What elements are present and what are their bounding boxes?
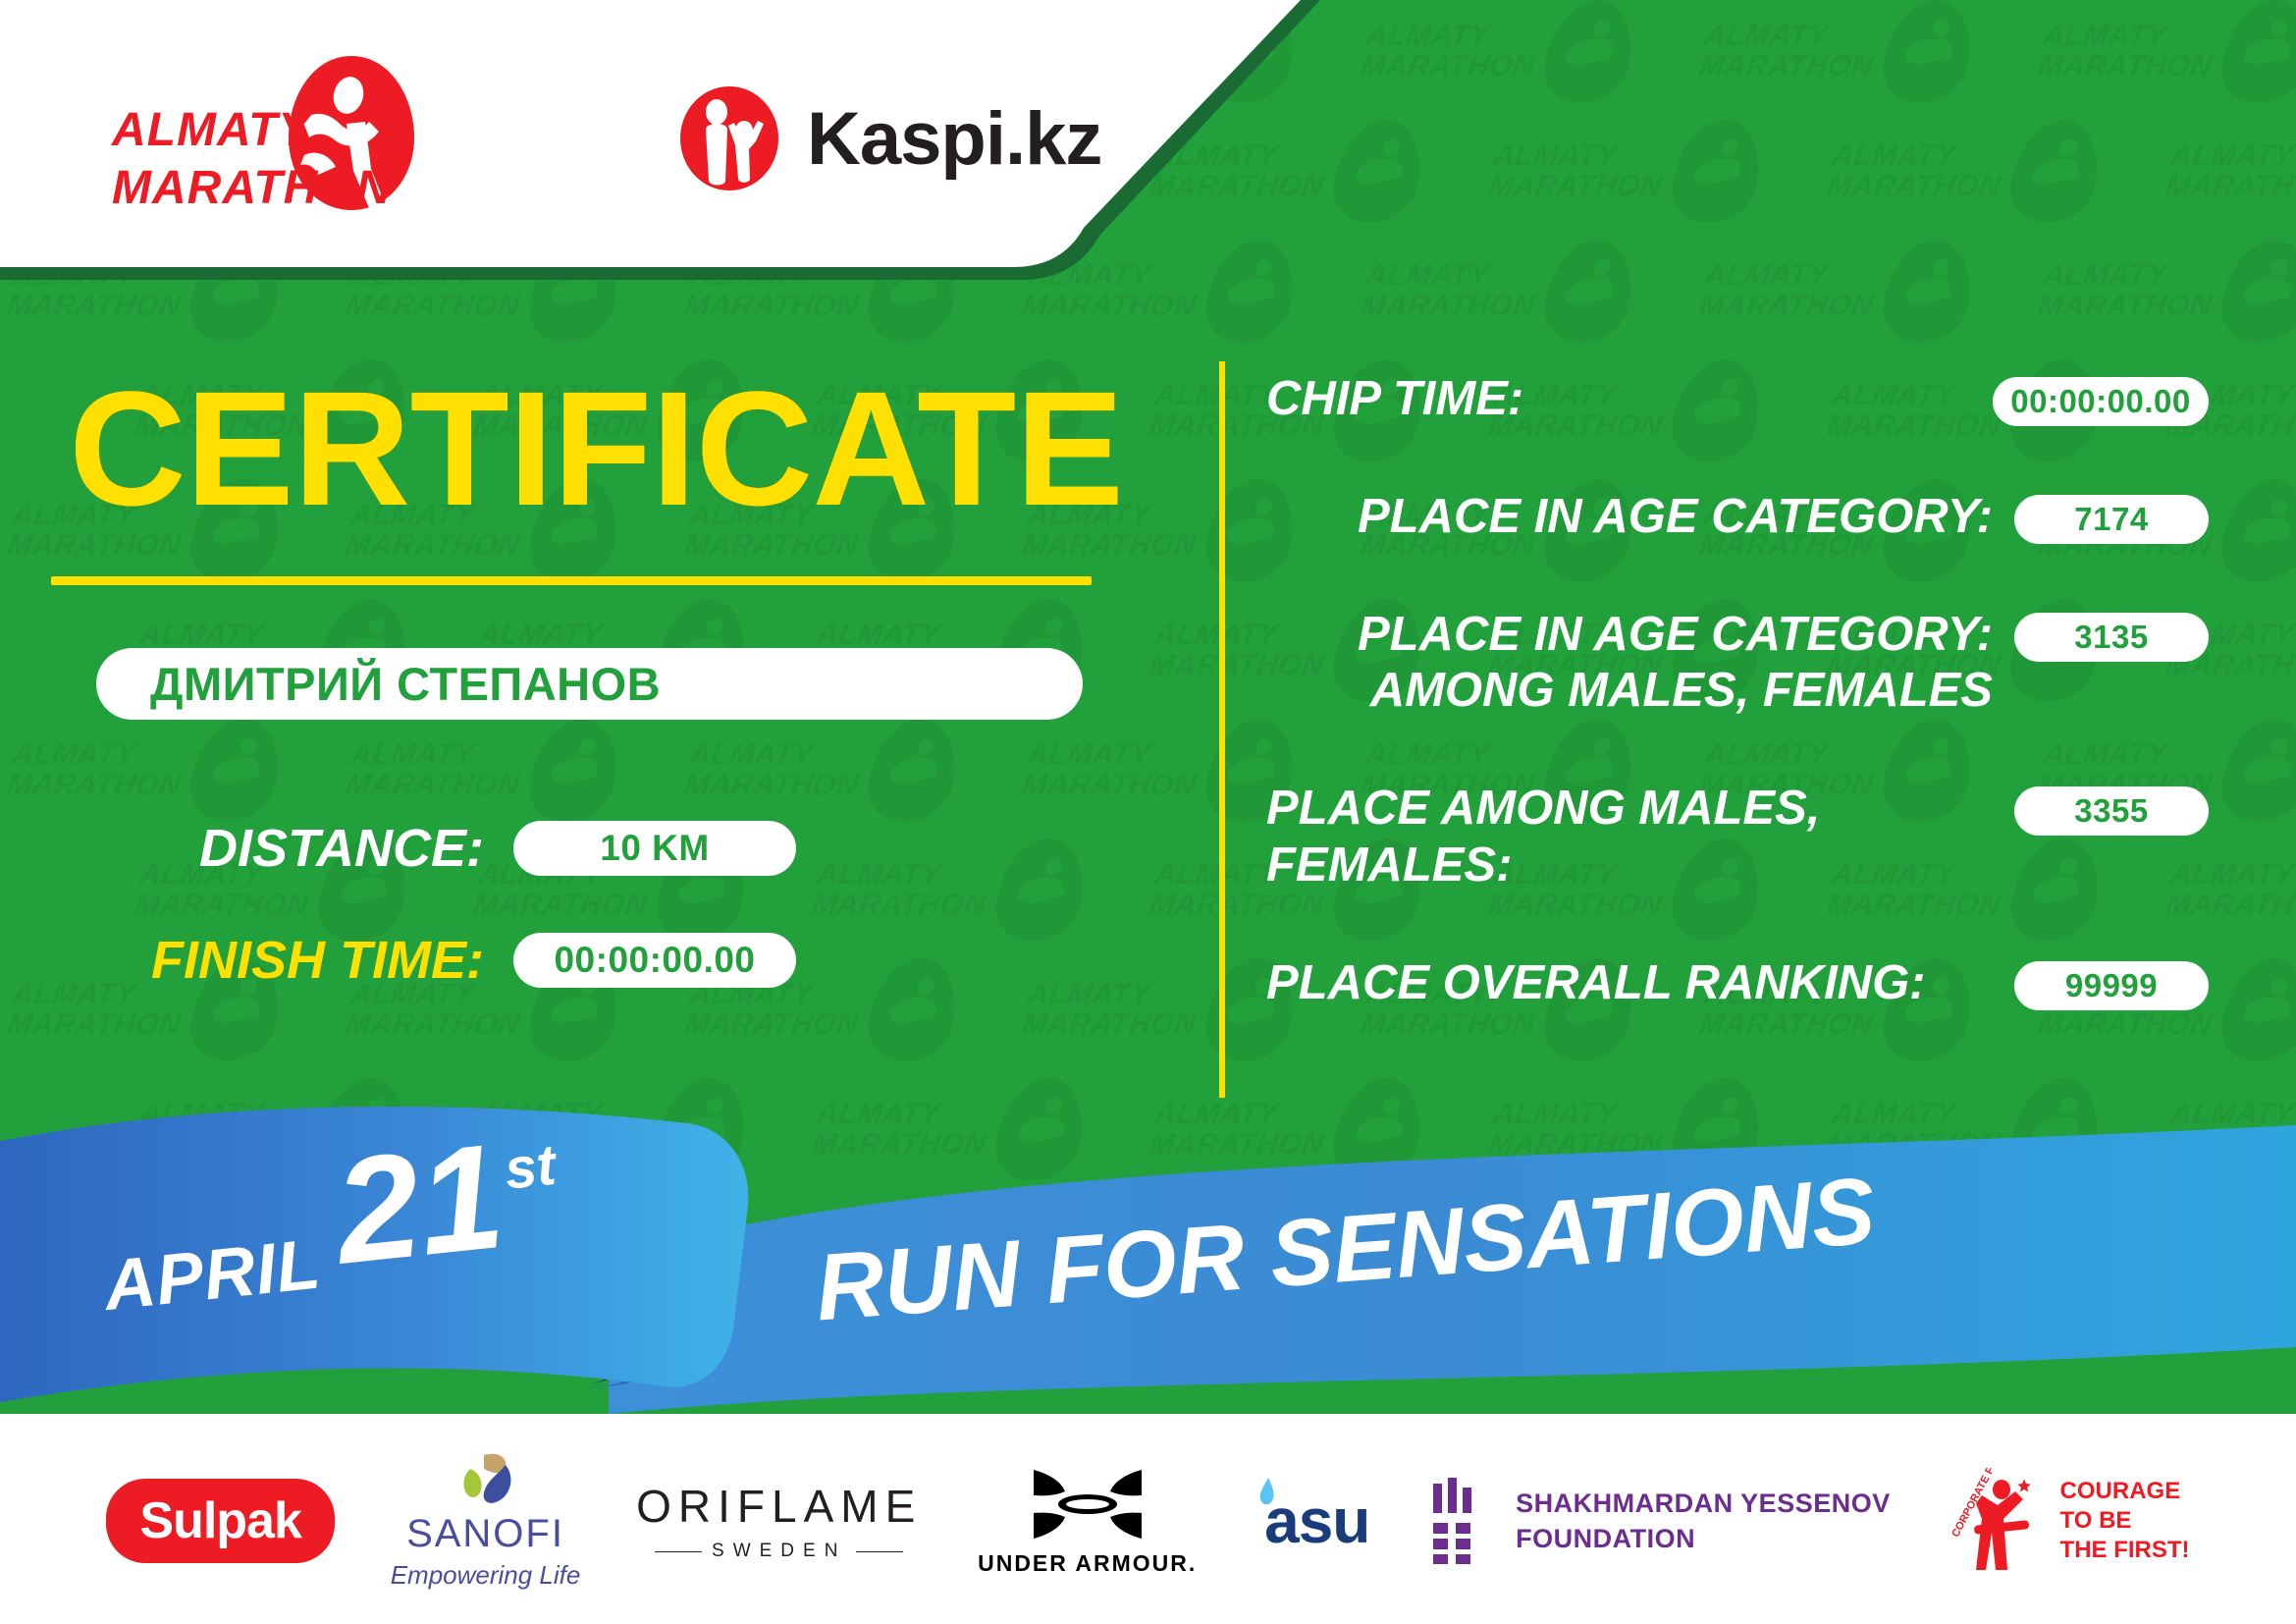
sponsor-under-armour-logo: UNDER ARMOUR. bbox=[978, 1466, 1197, 1577]
sponsor-under-armour-label: UNDER ARMOUR. bbox=[978, 1550, 1197, 1577]
watermark-drop-icon bbox=[2216, 0, 2296, 102]
watermark-almaty-marathon-icon: ALMATYMARATHON bbox=[2032, 240, 2296, 342]
sponsor-yessenov-line2: FOUNDATION bbox=[1516, 1521, 1891, 1556]
yessenov-mark-icon bbox=[1425, 1478, 1494, 1564]
place-overall-label: PLACE OVERALL RANKING: bbox=[1266, 955, 2014, 1012]
sponsor-courage-label: COURAGE TO BE THE FIRST! bbox=[2060, 1477, 2190, 1565]
header-logos: ALMATY MARATHON Kaspi.kz bbox=[0, 0, 1178, 280]
sponsor-courage-logo: CORPORATE FUND COURAGE TO BE THE FIRST! bbox=[1947, 1468, 2190, 1574]
watermark-drop-icon bbox=[2216, 479, 2296, 581]
distance-label: DISTANCE: bbox=[96, 818, 484, 879]
certificate-page: ALMATYMARATHONALMATYMARATHONALMATYMARATH… bbox=[0, 0, 2296, 1624]
place-age-category-gender-value-pill: 3135 bbox=[2014, 613, 2209, 662]
kaspi-people-icon bbox=[677, 86, 781, 190]
distance-value: 10 KM bbox=[600, 828, 709, 869]
sponsor-sanofi-label: SANOFI bbox=[406, 1512, 564, 1556]
sponsor-bar: Sulpak SANOFI Empowering Life ORIFLAME S… bbox=[0, 1418, 2296, 1624]
sponsor-sulpak-logo: Sulpak bbox=[106, 1479, 335, 1563]
sponsor-sanofi-logo: SANOFI Empowering Life bbox=[391, 1451, 581, 1591]
finish-time-value-pill: 00:00:00.00 bbox=[513, 933, 796, 988]
chip-time-value-pill: 00:00:00.00 bbox=[1993, 377, 2209, 426]
watermark-almaty-marathon-icon: ALMATYMARATHON bbox=[2160, 120, 2296, 222]
place-age-category-value: 7174 bbox=[2074, 501, 2148, 538]
stat-row-place-age-category: PLACE IN AGE CATEGORY: 7174 bbox=[1266, 489, 2209, 546]
kaspi-label: Kaspi.kz bbox=[807, 96, 1101, 182]
finish-time-label: FINISH TIME: bbox=[96, 930, 484, 991]
athlete-name-value: ДМИТРИЙ СТЕПАНОВ bbox=[150, 657, 661, 711]
stats-panel: CHIP TIME: 00:00:00.00 PLACE IN AGE CATE… bbox=[1266, 371, 2209, 1073]
watermark-drop-icon bbox=[1539, 240, 1639, 342]
watermark-drop-icon bbox=[2004, 120, 2105, 222]
oriflame-rule-right bbox=[856, 1551, 903, 1552]
place-age-category-label: PLACE IN AGE CATEGORY: bbox=[1266, 489, 2014, 546]
watermark-label: ALMATYMARATHON bbox=[2163, 140, 2296, 201]
sponsor-yessenov-label: SHAKHMARDAN YESSENOV FOUNDATION bbox=[1516, 1486, 1891, 1557]
page-title: CERTIFICATE bbox=[69, 368, 1217, 531]
sponsor-oriflame-sub: SWEDEN bbox=[655, 1541, 903, 1562]
watermark-label: ALMATYMARATHON bbox=[1697, 21, 1881, 81]
watermark-label: ALMATYMARATHON bbox=[1697, 260, 1881, 321]
sponsor-sanofi-tagline: Empowering Life bbox=[391, 1560, 581, 1591]
distance-value-pill: 10 KM bbox=[513, 821, 796, 876]
watermark-almaty-marathon-icon: ALMATYMARATHON bbox=[1694, 240, 1978, 342]
event-day: 21 bbox=[329, 1121, 509, 1287]
kaspi-logo: Kaspi.kz bbox=[677, 86, 1101, 190]
place-age-category-gender-value: 3135 bbox=[2074, 619, 2148, 656]
under-armour-mark-icon bbox=[1024, 1466, 1151, 1543]
place-among-gender-label: PLACE AMONG MALES, FEMALES: bbox=[1266, 781, 2014, 894]
sponsor-yessenov-line1: SHAKHMARDAN YESSENOV bbox=[1516, 1486, 1891, 1521]
watermark-drop-icon bbox=[2216, 719, 2296, 821]
event-day-suffix: st bbox=[502, 1132, 559, 1203]
courage-line1: COURAGE bbox=[2060, 1477, 2190, 1506]
sponsor-oriflame-label: ORIFLAME bbox=[636, 1480, 922, 1533]
watermark-almaty-marathon-icon: ALMATYMARATHON bbox=[2032, 0, 2296, 102]
watermark-label: ALMATYMARATHON bbox=[2036, 260, 2219, 321]
sanofi-mark-icon bbox=[449, 1451, 523, 1512]
stat-row-place-overall: PLACE OVERALL RANKING: 99999 bbox=[1266, 955, 2209, 1012]
finish-time-row: FINISH TIME: 00:00:00.00 bbox=[96, 930, 1217, 991]
watermark-drop-icon bbox=[1877, 0, 1977, 102]
place-among-gender-value: 3355 bbox=[2074, 792, 2148, 830]
courage-line2: TO BE bbox=[2060, 1506, 2190, 1536]
watermark-almaty-marathon-icon: ALMATYMARATHON bbox=[1694, 0, 1978, 102]
distance-row: DISTANCE: 10 KM bbox=[96, 818, 1217, 879]
watermark-drop-icon bbox=[2216, 240, 2296, 342]
watermark-label: ALMATYMARATHON bbox=[1825, 140, 2008, 201]
watermark-almaty-marathon-icon: ALMATYMARATHON bbox=[1822, 120, 2106, 222]
place-age-category-value-pill: 7174 bbox=[2014, 495, 2209, 544]
stat-row-place-age-category-gender: PLACE IN AGE CATEGORY: AMONG MALES, FEMA… bbox=[1266, 607, 2209, 721]
chip-time-label: CHIP TIME: bbox=[1266, 371, 1993, 428]
watermark-label: ALMATYMARATHON bbox=[2036, 21, 2219, 81]
title-divider bbox=[51, 576, 1092, 585]
watermark-label: ALMATYMARATHON bbox=[1486, 140, 1670, 201]
almaty-marathon-logo: ALMATY MARATHON bbox=[108, 51, 432, 223]
certificate-left-column: CERTIFICATE ДМИТРИЙ СТЕПАНОВ DISTANCE: 1… bbox=[0, 324, 1217, 991]
sponsor-yessenov-logo: SHAKHMARDAN YESSENOV FOUNDATION bbox=[1425, 1478, 1891, 1564]
sponsor-oriflame-sub-label: SWEDEN bbox=[712, 1541, 846, 1562]
watermark-drop-icon bbox=[2216, 958, 2296, 1060]
chip-time-value: 00:00:00.00 bbox=[2010, 383, 2190, 420]
athlete-name-field[interactable]: ДМИТРИЙ СТЕПАНОВ bbox=[96, 648, 1083, 720]
courage-figure-icon: CORPORATE FUND bbox=[1947, 1468, 2049, 1574]
place-age-category-gender-label: PLACE IN AGE CATEGORY: AMONG MALES, FEMA… bbox=[1266, 607, 2014, 721]
place-overall-value: 99999 bbox=[2065, 967, 2158, 1004]
place-among-gender-value-pill: 3355 bbox=[2014, 786, 2209, 836]
sponsor-oriflame-logo: ORIFLAME SWEDEN bbox=[636, 1480, 922, 1562]
place-overall-value-pill: 99999 bbox=[2014, 961, 2209, 1010]
watermark-drop-icon bbox=[1539, 0, 1639, 102]
watermark-almaty-marathon-icon: ALMATYMARATHON bbox=[1483, 120, 1767, 222]
stat-row-place-among-gender: PLACE AMONG MALES, FEMALES: 3355 bbox=[1266, 781, 2209, 894]
watermark-drop-icon bbox=[1877, 240, 1977, 342]
courage-line3: THE FIRST! bbox=[2060, 1536, 2190, 1565]
sponsor-asu-logo: asu bbox=[1253, 1485, 1369, 1557]
watermark-drop-icon bbox=[1667, 120, 1767, 222]
asu-droplet-icon bbox=[1253, 1474, 1282, 1525]
oriflame-rule-left bbox=[655, 1551, 702, 1552]
svg-text:MARATHON: MARATHON bbox=[112, 162, 392, 214]
vertical-divider bbox=[1219, 361, 1225, 1098]
stat-row-chip-time: CHIP TIME: 00:00:00.00 bbox=[1266, 371, 2209, 428]
svg-text:ALMATY: ALMATY bbox=[111, 104, 313, 156]
sponsor-sulpak-label: Sulpak bbox=[139, 1491, 301, 1550]
finish-time-value: 00:00:00.00 bbox=[554, 940, 755, 981]
